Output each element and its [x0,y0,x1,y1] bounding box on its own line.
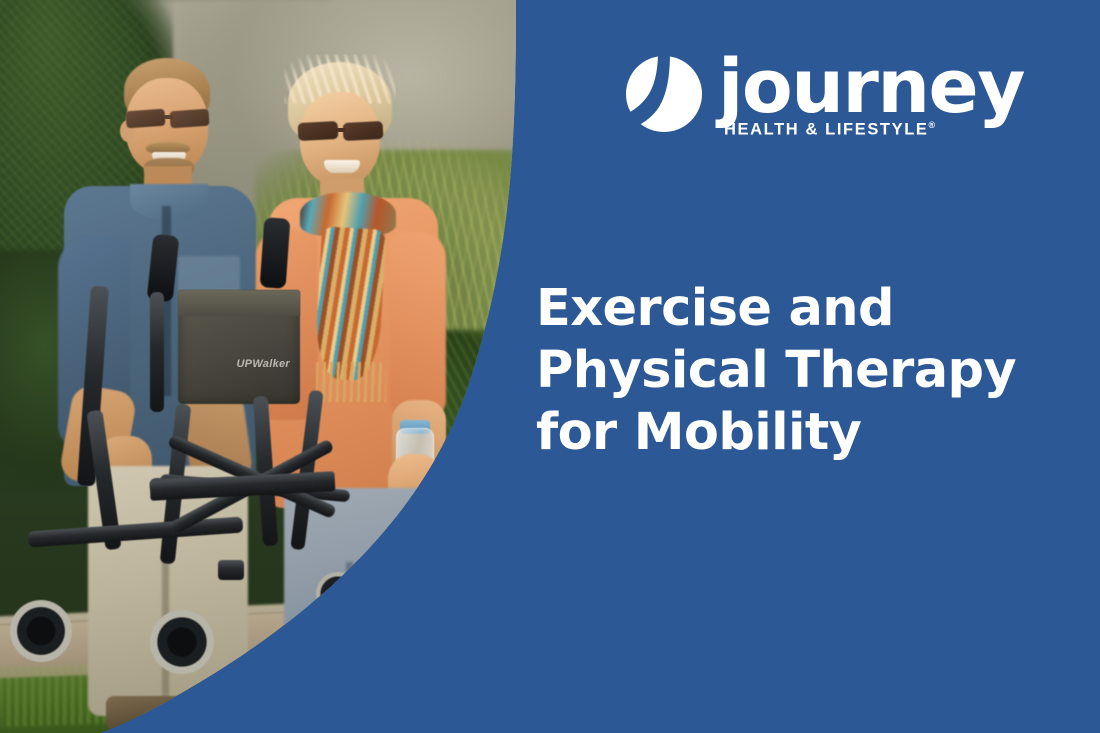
page-title-line-1: Exercise and [536,278,1076,340]
page-title: Exercise and Physical Therapy for Mobili… [536,278,1076,465]
woman-jeans-seam [346,562,353,733]
walker-bag-flap [178,290,300,316]
article-hero-banner: UPWalker [0,0,1100,733]
walker-bag-brand-label: UPWalker [206,358,290,374]
page-title-line-3: for Mobility [536,402,1076,464]
page-title-line-2: Physical Therapy [536,340,1076,402]
walker-left-grip [147,234,180,302]
brand-tagline: HEALTH & LIFESTYLE® [724,120,935,140]
hero-photo: UPWalker [0,0,560,733]
walker-right-grip [260,217,291,289]
walker-wheel-rear [316,572,360,616]
walker-hub-clamp [218,560,244,580]
journey-droplet-circle-icon [626,56,702,132]
brand-wordmark: journey [718,50,1024,124]
photo-canvas: UPWalker [0,0,560,733]
woman-foot [314,676,370,704]
woman-sandal [310,694,402,722]
registered-trademark-icon: ® [929,120,936,130]
walker-wheel-front-right [150,610,214,674]
upwalker-rollator: UPWalker [0,0,560,733]
walker-left-inner-post [150,292,164,412]
brand-logo: journey HEALTH & LIFESTYLE® [626,52,966,152]
walker-wheel-front-left [10,600,72,662]
brand-tagline-text: HEALTH & LIFESTYLE [724,121,929,139]
walker-lower-crossbar [28,517,244,548]
